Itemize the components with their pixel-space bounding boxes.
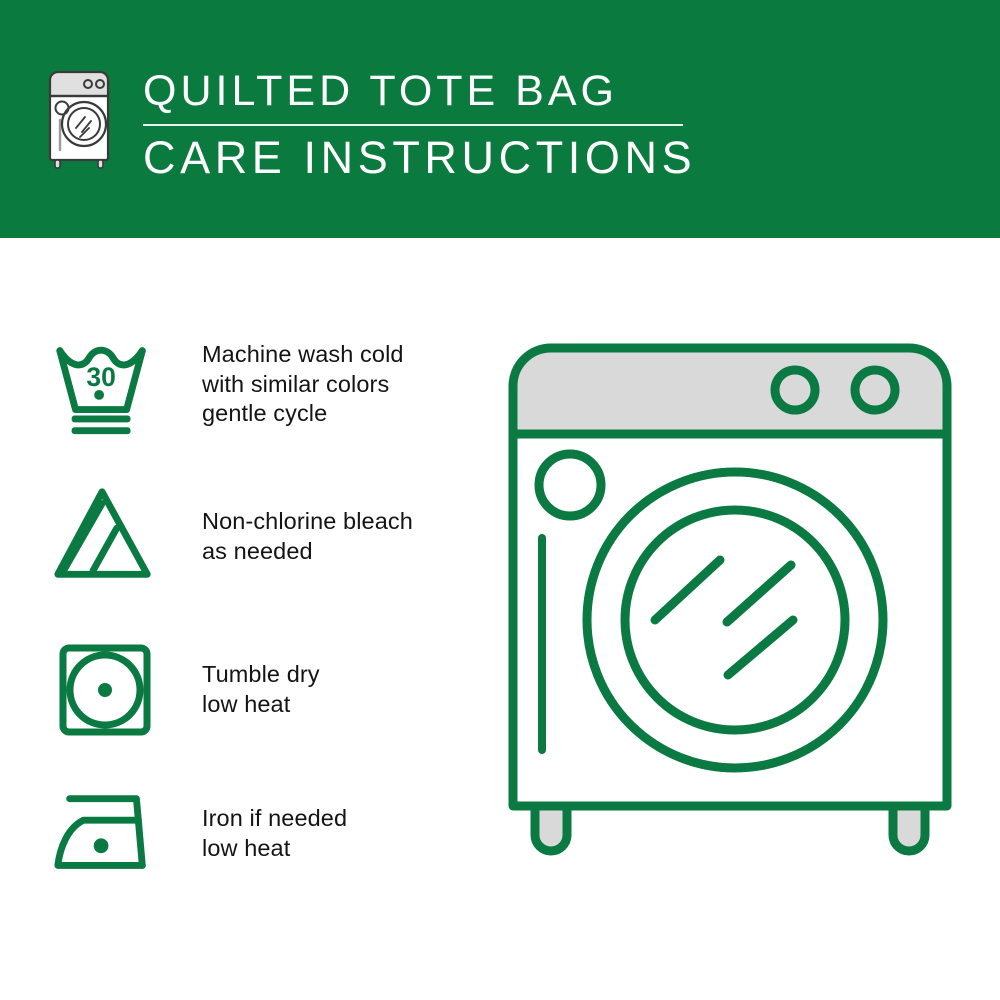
care-row-wash: 30 Machine wash cold with similar colors… xyxy=(0,338,500,438)
header-title-group: QUILTED TOTE BAG CARE INSTRUCTIONS xyxy=(143,68,863,183)
care-line: Machine wash cold xyxy=(202,340,404,370)
page-title: CARE INSTRUCTIONS xyxy=(143,133,863,183)
non-chlorine-bleach-triangle-icon xyxy=(50,483,160,587)
care-line: low heat xyxy=(202,834,347,864)
washing-machine-icon xyxy=(44,66,116,170)
title-divider xyxy=(143,124,683,126)
care-text-iron: Iron if needed low heat xyxy=(202,788,347,863)
care-line: Non-chlorine bleach xyxy=(202,507,413,537)
care-row-bleach: Non-chlorine bleach as needed xyxy=(0,483,500,587)
wash-temperature-label: 30 xyxy=(86,362,115,392)
care-line: Tumble dry xyxy=(202,660,320,690)
care-text-tumble-dry: Tumble dry low heat xyxy=(202,638,320,719)
control-panel xyxy=(513,348,947,434)
wash-tub-30-gentle-icon: 30 xyxy=(50,338,160,438)
care-line: with similar colors xyxy=(202,370,404,400)
care-line: as needed xyxy=(202,537,413,567)
leg-left xyxy=(535,806,567,851)
front-load-washing-machine-illustration xyxy=(495,330,965,930)
care-row-tumble-dry: Tumble dry low heat xyxy=(0,638,500,742)
care-line: Iron if needed xyxy=(202,804,347,834)
product-title: QUILTED TOTE BAG xyxy=(143,68,863,115)
care-row-iron: Iron if needed low heat xyxy=(0,788,500,878)
care-text-wash: Machine wash cold with similar colors ge… xyxy=(202,338,404,429)
care-text-bleach: Non-chlorine bleach as needed xyxy=(202,483,413,566)
iron-low-heat-icon xyxy=(50,788,160,878)
care-instruction-list: 30 Machine wash cold with similar colors… xyxy=(0,238,500,1000)
care-line: gentle cycle xyxy=(202,399,404,429)
leg-right xyxy=(893,806,925,851)
tumble-dry-low-icon xyxy=(50,638,160,742)
care-instructions-infographic: QUILTED TOTE BAG CARE INSTRUCTIONS xyxy=(0,0,1000,1000)
care-line: low heat xyxy=(202,690,320,720)
header-banner: QUILTED TOTE BAG CARE INSTRUCTIONS xyxy=(0,0,1000,238)
